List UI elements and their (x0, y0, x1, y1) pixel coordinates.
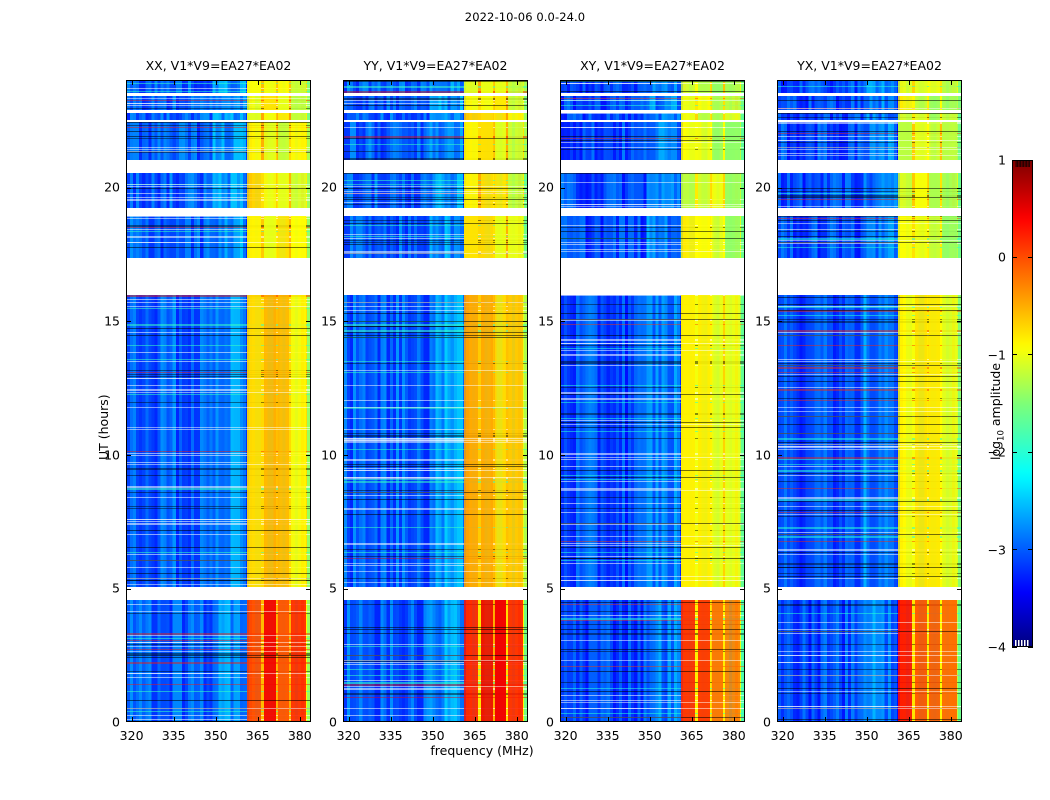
colorbar-gradient (1013, 161, 1032, 646)
x-tick-label: 365 (246, 728, 270, 743)
rfi-column (942, 173, 956, 208)
y-tick-label: 20 (311, 180, 337, 195)
x-tick-label: 380 (288, 728, 312, 743)
integration-stripe (127, 136, 310, 137)
rfi-column (942, 122, 956, 159)
rfi-column (698, 96, 710, 110)
x-axis-tick (566, 81, 567, 85)
integration-stripe (561, 717, 744, 718)
rfi-column (681, 96, 695, 110)
y-axis-tick (561, 455, 565, 456)
integration-stripe (778, 510, 961, 511)
integration-stripe (127, 560, 310, 561)
rfi-column (264, 113, 276, 120)
integration-stripe (561, 602, 744, 603)
integration-stripe (561, 173, 744, 174)
integration-stripe (561, 394, 744, 395)
integration-stripe (778, 708, 961, 709)
integration-stripe (344, 438, 527, 439)
scan-block (127, 96, 310, 110)
y-tick-label: 0 (528, 715, 554, 730)
panel-title-yy: YY, V1*V9=EA27*EA02 (343, 58, 528, 76)
rfi-column (481, 81, 493, 93)
integration-stripe (778, 446, 961, 447)
integration-stripe (778, 622, 961, 623)
rfi-column (495, 600, 505, 722)
y-axis-tick (127, 321, 131, 322)
x-axis-tick (174, 81, 175, 85)
integration-stripe (561, 100, 744, 101)
integration-stripe (561, 140, 744, 141)
rfi-column (898, 122, 912, 159)
x-tick-label: 335 (813, 728, 837, 743)
integration-stripe (561, 83, 744, 84)
integration-stripe (561, 708, 744, 709)
scan-block (778, 81, 961, 93)
rfi-column (291, 173, 305, 208)
y-axis-tick (561, 589, 565, 590)
rfi-column (508, 113, 522, 120)
rfi-column (495, 122, 505, 159)
y-axis-tick (778, 188, 782, 189)
scan-block (344, 216, 527, 257)
integration-stripe (561, 457, 744, 458)
rfi-column (915, 81, 927, 93)
integration-stripe (778, 140, 961, 141)
y-axis-tick (957, 188, 961, 189)
integration-stripe (344, 223, 527, 224)
integration-stripe (127, 429, 310, 430)
y-axis-tick (306, 455, 310, 456)
x-tick-label: 320 (554, 728, 578, 743)
x-axis-tick (300, 717, 301, 721)
waterfall-panel-yy[interactable] (343, 80, 528, 722)
scan-block (561, 96, 744, 110)
rfi-column (464, 295, 478, 587)
waterfall-panel-xx[interactable] (126, 80, 311, 722)
rfi-column (712, 600, 722, 722)
scan-block (344, 113, 527, 120)
integration-stripe (778, 188, 961, 189)
integration-stripe (127, 427, 310, 428)
rfi-column (929, 295, 939, 587)
x-axis-tick (216, 81, 217, 85)
rfi-column (291, 295, 305, 587)
integration-stripe (127, 700, 310, 701)
rfi-column (508, 81, 522, 93)
x-tick-label: 335 (162, 728, 186, 743)
scan-block (344, 173, 527, 208)
integration-stripe (561, 547, 744, 548)
y-tick-label: 10 (745, 447, 771, 462)
integration-stripe (561, 477, 744, 478)
integration-stripe (778, 197, 961, 198)
figure-canvas: 2022-10-06 0.0-24.0 XX, V1*V9=EA27*EA02 … (0, 0, 1050, 800)
panel-title-xx: XX, V1*V9=EA27*EA02 (126, 58, 311, 76)
integration-stripe (344, 492, 527, 493)
rfi-column (264, 122, 276, 159)
rfi-column (247, 216, 261, 257)
colorbar-tick (1028, 354, 1033, 355)
waterfall-image-xy (561, 81, 744, 721)
integration-stripe (778, 147, 961, 148)
y-tick-label: 0 (745, 715, 771, 730)
panel-title-yx: YX, V1*V9=EA27*EA02 (777, 58, 962, 76)
x-axis-tick (566, 717, 567, 721)
integration-stripe (561, 91, 744, 92)
rfi-column (481, 113, 493, 120)
x-axis-tick (517, 717, 518, 721)
rfi-column (942, 600, 956, 722)
scan-block (127, 122, 310, 159)
y-axis-tick (344, 321, 348, 322)
x-axis-tick (825, 717, 826, 721)
y-axis-tick (127, 188, 131, 189)
scan-block (127, 113, 310, 120)
integration-stripe (127, 673, 310, 674)
colorbar-tick (1028, 549, 1033, 550)
integration-stripe (344, 191, 527, 192)
rfi-column (278, 173, 288, 208)
scan-block (561, 216, 744, 257)
x-axis-tick (608, 717, 609, 721)
integration-stripe (344, 442, 527, 443)
integration-stripe (778, 506, 961, 507)
scan-block (561, 173, 744, 208)
x-tick-label: 335 (596, 728, 620, 743)
colorbar-tick-label: 1 (978, 153, 1006, 168)
colorbar-tick (1012, 452, 1017, 453)
scan-block (127, 216, 310, 257)
scan-block (344, 96, 527, 110)
rfi-column (247, 295, 261, 587)
integration-stripe (561, 640, 744, 641)
integration-stripe (778, 365, 961, 366)
rfi-column (291, 216, 305, 257)
integration-stripe (778, 567, 961, 568)
y-tick-label: 20 (528, 180, 554, 195)
y-axis-tick (957, 321, 961, 322)
rfi-column (508, 295, 522, 587)
y-axis-tick (306, 188, 310, 189)
colorbar-tick (1028, 257, 1033, 258)
y-tick-label: 5 (528, 581, 554, 596)
y-tick-label: 0 (94, 715, 120, 730)
integration-stripe (778, 297, 961, 298)
integration-stripe (561, 313, 744, 314)
scan-block (344, 600, 527, 722)
colorbar-tick (1012, 354, 1017, 355)
y-axis-tick (740, 321, 744, 322)
x-axis-tick (650, 81, 651, 85)
y-tick-label: 15 (528, 313, 554, 328)
integration-stripe (344, 633, 527, 634)
x-tick-label: 350 (855, 728, 879, 743)
x-axis-tick (433, 717, 434, 721)
integration-stripe (127, 578, 310, 579)
x-axis-tick (951, 81, 952, 85)
integration-stripe (344, 138, 527, 139)
y-axis-tick (306, 321, 310, 322)
integration-stripe (778, 310, 961, 311)
y-axis-tick (344, 188, 348, 189)
integration-stripe (344, 477, 527, 478)
integration-stripe (778, 223, 961, 224)
x-axis-tick (132, 81, 133, 85)
integration-stripe (127, 584, 310, 585)
colorbar-title: log10 amplitude (988, 363, 1007, 460)
integration-stripe (344, 188, 527, 189)
integration-stripe (778, 131, 961, 132)
integration-stripe (344, 440, 527, 441)
integration-stripe (778, 416, 961, 417)
integration-stripe (344, 199, 527, 200)
y-axis-tick (344, 589, 348, 590)
rfi-column (247, 173, 261, 208)
integration-stripe (778, 149, 961, 150)
colorbar-tick-label: −4 (978, 640, 1006, 655)
x-tick-label: 320 (771, 728, 795, 743)
integration-stripe (778, 407, 961, 408)
integration-stripe (561, 81, 744, 82)
x-axis-tick (391, 717, 392, 721)
integration-stripe (778, 424, 961, 425)
integration-stripe (561, 182, 744, 183)
integration-stripe (778, 306, 961, 307)
integration-stripe (344, 627, 527, 628)
x-axis-tick (825, 81, 826, 85)
integration-stripe (127, 708, 310, 709)
rfi-column (264, 295, 276, 587)
rfi-column (291, 600, 305, 722)
integration-stripe (344, 686, 527, 687)
integration-stripe (561, 629, 744, 630)
y-axis-tick (127, 455, 131, 456)
integration-stripe (127, 407, 310, 408)
rfi-column (481, 600, 493, 722)
x-axis-tick (132, 717, 133, 721)
y-axis-tick (523, 188, 527, 189)
integration-stripe (778, 242, 961, 243)
y-axis-tick (344, 455, 348, 456)
x-tick-label: 365 (897, 728, 921, 743)
integration-stripe (561, 231, 744, 232)
rfi-column (495, 295, 505, 587)
x-axis-tick (349, 717, 350, 721)
integration-stripe (127, 103, 310, 104)
integration-stripe (561, 422, 744, 423)
waterfall-panel-yx[interactable] (777, 80, 962, 722)
integration-stripe (344, 660, 527, 661)
y-axis-tick (740, 455, 744, 456)
integration-stripe (778, 501, 961, 502)
rfi-column (278, 216, 288, 257)
x-tick-label: 365 (680, 728, 704, 743)
x-tick-label: 320 (337, 728, 361, 743)
colorbar-extend-bottom (1015, 640, 1030, 646)
integration-stripe (778, 442, 961, 443)
x-tick-label: 380 (505, 728, 529, 743)
integration-stripe (561, 545, 744, 546)
y-axis-tick (306, 589, 310, 590)
integration-stripe (127, 392, 310, 393)
integration-stripe (344, 407, 527, 408)
x-axis-tick (734, 81, 735, 85)
rfi-column (698, 295, 710, 587)
scan-block (127, 173, 310, 208)
x-tick-label: 365 (463, 728, 487, 743)
panel-title-xy: XY, V1*V9=EA27*EA02 (560, 58, 745, 76)
colorbar-tick-label: −1 (978, 347, 1006, 362)
integration-stripe (561, 335, 744, 336)
integration-stripe (344, 629, 527, 630)
integration-stripe (127, 580, 310, 581)
y-axis-tick (957, 455, 961, 456)
integration-stripe (561, 343, 744, 344)
rfi-column (464, 600, 478, 722)
integration-stripe (778, 100, 961, 101)
integration-stripe (561, 671, 744, 672)
integration-stripe (561, 350, 744, 351)
integration-stripe (561, 536, 744, 537)
integration-stripe (778, 335, 961, 336)
y-axis-tick (740, 589, 744, 590)
scan-block (778, 216, 961, 257)
integration-stripe (127, 611, 310, 612)
scan-block (778, 122, 961, 159)
rfi-column (712, 295, 722, 587)
integration-stripe (344, 326, 527, 327)
integration-stripe (127, 464, 310, 465)
y-axis-tick (523, 321, 527, 322)
integration-stripe (778, 576, 961, 577)
integration-stripe (778, 514, 961, 515)
integration-stripe (778, 675, 961, 676)
integration-stripe (344, 193, 527, 194)
rfi-column (915, 295, 927, 587)
scan-block (344, 81, 527, 93)
integration-stripe (344, 313, 527, 314)
integration-stripe (127, 149, 310, 150)
rfi-column (915, 600, 927, 722)
colorbar-tick (1012, 549, 1017, 550)
scan-block (561, 81, 744, 93)
x-axis-tick (433, 81, 434, 85)
integration-stripe (561, 127, 744, 128)
integration-stripe (344, 466, 527, 467)
colorbar-tick-label: 0 (978, 250, 1006, 265)
y-tick-label: 10 (528, 447, 554, 462)
rfi-column (681, 122, 695, 159)
scan-block (778, 600, 961, 722)
integration-stripe (778, 236, 961, 237)
integration-stripe (561, 136, 744, 137)
rfi-column (681, 600, 695, 722)
rfi-column (929, 113, 939, 120)
rfi-column (915, 122, 927, 159)
integration-stripe (561, 580, 744, 581)
integration-stripe (778, 240, 961, 241)
rfi-column (464, 113, 478, 120)
x-axis-tick (867, 81, 868, 85)
integration-stripe (778, 449, 961, 450)
integration-stripe (778, 662, 961, 663)
x-axis-tick (734, 717, 735, 721)
integration-stripe (344, 514, 527, 515)
rfi-column (464, 122, 478, 159)
rfi-column (481, 295, 493, 587)
integration-stripe (344, 337, 527, 338)
rfi-column (712, 96, 722, 110)
y-tick-label: 15 (745, 313, 771, 328)
integration-stripe (561, 251, 744, 252)
colorbar-extend-top (1015, 161, 1030, 167)
rfi-column (508, 96, 522, 110)
integration-stripe (561, 691, 744, 692)
y-tick-label: 20 (745, 180, 771, 195)
integration-stripe (127, 573, 310, 574)
integration-stripe (344, 105, 527, 106)
y-axis-tick (957, 589, 961, 590)
integration-stripe (561, 558, 744, 559)
x-axis-tick (517, 81, 518, 85)
integration-stripe (561, 319, 744, 320)
integration-stripe (127, 655, 310, 656)
integration-stripe (127, 651, 310, 652)
rfi-column (481, 96, 493, 110)
y-axis-tick (740, 188, 744, 189)
integration-stripe (344, 571, 527, 572)
scan-block (561, 600, 744, 722)
rfi-column (264, 81, 276, 93)
x-axis-tick (909, 717, 910, 721)
rfi-column (264, 216, 276, 257)
integration-stripe (344, 470, 527, 471)
y-axis-tick (778, 321, 782, 322)
integration-stripe (127, 184, 310, 185)
x-tick-label: 335 (379, 728, 403, 743)
integration-stripe (344, 244, 527, 245)
rfi-column (942, 113, 956, 120)
integration-stripe (778, 631, 961, 632)
integration-stripe (344, 332, 527, 333)
rfi-column (698, 113, 710, 120)
x-axis-tick (475, 81, 476, 85)
integration-stripe (344, 370, 527, 371)
integration-stripe (778, 381, 961, 382)
rfi-column (247, 113, 261, 120)
rfi-column (929, 600, 939, 722)
x-axis-tick (475, 717, 476, 721)
rfi-column (291, 81, 305, 93)
colorbar[interactable] (1012, 160, 1033, 647)
integration-stripe (778, 444, 961, 445)
integration-stripe (778, 706, 961, 707)
scan-block (561, 295, 744, 587)
integration-stripe (344, 582, 527, 583)
x-axis-tick (909, 81, 910, 85)
integration-stripe (127, 98, 310, 99)
x-axis-tick (783, 717, 784, 721)
rfi-column (278, 600, 288, 722)
integration-stripe (127, 635, 310, 636)
y-axis-tick (523, 455, 527, 456)
waterfall-panel-xy[interactable] (560, 80, 745, 722)
rfi-column (942, 295, 956, 587)
scan-block (344, 122, 527, 159)
scan-block (778, 295, 961, 587)
integration-stripe (127, 335, 310, 336)
